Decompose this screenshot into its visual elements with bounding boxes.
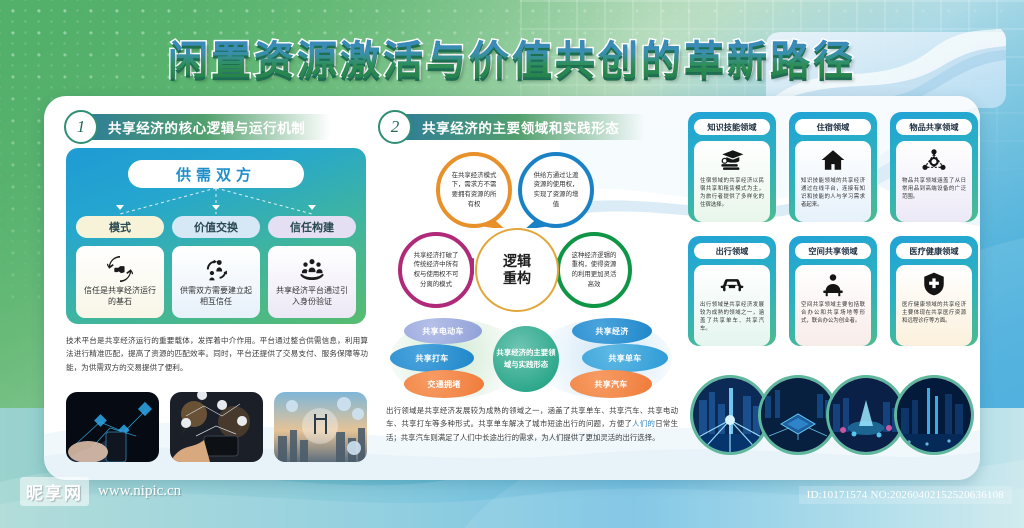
footer-url: www.nipic.cn	[98, 483, 181, 500]
domain-card-health-text: 医疗健康领域的共享经济主要体现在共享医疗资源和远程诊疗等方面。	[902, 301, 966, 325]
footer-brand: 昵享网	[20, 477, 89, 506]
sd-column-2-body: 供需双方需要建立起相互信任	[172, 246, 260, 318]
home-icon	[820, 147, 846, 173]
petal-4-bubble: 这种经济逻辑的重构，使得资源的利用更加灵活高效	[556, 232, 632, 308]
domain-card-mobility-text: 出行领域是共享经济发展较为成熟的领域之一，涵盖了共享单车、共享汽车。	[700, 301, 764, 333]
venn-left-item-1: 共享电动车	[404, 318, 482, 344]
venn-right-item-2: 共享单车	[582, 344, 668, 372]
section-1-title: 共享经济的核心逻辑与运行机制	[108, 117, 305, 137]
petal-4-text: 这种经济逻辑的重构，使得资源的利用更加灵活高效	[560, 251, 628, 289]
sd-column-1: 模式 信任是共享经济运行的基石	[76, 216, 164, 318]
photo-fingers-tablet-icons	[170, 392, 263, 462]
domain-card-space[interactable]: 空间共享领域 空间共享领域主要包括联合办公和共享场地等形式，联合办公为创业者。	[789, 236, 877, 346]
photo-hand-phone-network	[66, 392, 159, 462]
domain-card-goods-title: 物品共享领域	[896, 119, 972, 135]
network-gear-icon	[921, 147, 947, 173]
petal-1-bubble: 在共享经济模式下，需求方不需要拥有资源的所有权	[436, 152, 512, 228]
petal-2-bubble: 供给方通过让渡资源的使用权，实现了资源的增值	[518, 152, 594, 228]
petal-2-text: 供给方通过让渡资源的使用权，实现了资源的增值	[522, 171, 590, 209]
domain-card-lodging[interactable]: 住宿领域 知识技能领域的共享经济通过在线平台，连接有知识和技能的人与学习需求者起…	[789, 112, 877, 222]
sd-column-1-text: 信任是共享经济运行的基石	[81, 286, 159, 308]
supply-demand-card: 供需双方 模式 信任是共享经济运行的基石 价值交换	[66, 148, 366, 324]
venn-left-item-2: 共享打车	[390, 344, 474, 372]
domain-card-health-title: 医疗健康领域	[896, 243, 972, 259]
petal-3-bubble: 共享经济打破了传统经济中所有权与使用权不可分离的模式	[398, 232, 474, 308]
sd-column-3-head: 信任构建	[268, 216, 356, 238]
domain-card-goods-body: 物品共享领域涵盖了从日常用品到高端设备的广泛范围。	[896, 141, 972, 222]
petal-3: 共享经济打破了传统经济中所有权与使用权不可分离的模式	[398, 232, 474, 308]
section-1-photo-row	[66, 392, 368, 462]
domain-card-knowledge-body: 住宿领域的共享经济以民宿共享和租赁模式为主，为旅行者提供了多样化的住宿选择。	[694, 141, 770, 222]
domain-card-health-body: 医疗健康领域的共享经济主要体现在共享医疗资源和远程诊疗等方面。	[896, 265, 972, 346]
sd-column-2-text: 供需双方需要建立起相互信任	[177, 286, 255, 308]
poster-title-overlay: 闲置资源激活与价值共创的革新路径	[168, 28, 856, 86]
domain-card-lodging-text: 知识技能领域的共享经济通过在线平台，连接有知识和技能的人与学习需求者起来。	[801, 177, 865, 209]
domain-card-mobility-body: 出行领域是共享经济发展较为成熟的领域之一，涵盖了共享单车、共享汽车。	[694, 265, 770, 346]
sd-column-3-text: 共享经济平台通过引入身份验证	[273, 286, 351, 308]
section-2-title-bar: 共享经济的主要领域和实践形态	[402, 114, 645, 140]
section-1-paragraph: 技术平台是共享经济运行的重要载体，发挥着中介作用。平台通过整合供需信息，利用算法…	[66, 334, 368, 374]
car-icon	[719, 271, 745, 297]
domain-card-mobility-title: 出行领域	[694, 243, 770, 259]
handshake-icon	[107, 256, 133, 282]
sd-column-2: 价值交换 供需双方需要建立起相互信任	[172, 216, 260, 318]
poster-title-wrap: 闲置资源激活与价值共创的革新路径 闲置资源激活与价值共创的革新路径	[0, 28, 1024, 86]
graduation-books-icon	[719, 147, 745, 173]
sd-column-1-body: 信任是共享经济运行的基石	[76, 246, 164, 318]
supply-demand-title: 供需双方	[128, 160, 304, 188]
sd-column-1-head: 模式	[76, 216, 164, 238]
domain-card-lodging-body: 知识技能领域的共享经济通过在线平台，连接有知识和技能的人与学习需求者起来。	[795, 141, 871, 222]
section-2-title: 共享经济的主要领域和实践形态	[422, 117, 619, 137]
section-2-number: 2	[378, 110, 412, 144]
venn-left-item-3: 交通拥堵	[404, 370, 484, 398]
logic-hub: 逻辑重构	[475, 228, 559, 312]
domain-card-space-text: 空间共享领域主要包括联合办公和共享场地等形式，联合办公为创业者。	[801, 301, 865, 325]
person-desk-icon	[820, 271, 846, 297]
venn-right-item-1: 共享经济	[572, 318, 652, 344]
domain-card-space-body: 空间共享领域主要包括联合办公和共享场地等形式，联合办公为创业者。	[795, 265, 871, 346]
domain-card-health[interactable]: 医疗健康领域 医疗健康领域的共享经济主要体现在共享医疗资源和远程诊疗等方面。	[890, 236, 978, 346]
petal-2: 供给方通过让渡资源的使用权，实现了资源的增值	[518, 152, 594, 228]
petal-1-text: 在共享经济模式下，需求方不需要拥有资源的所有权	[440, 171, 508, 209]
photo-city-sunset-network	[274, 392, 367, 462]
shield-cross-icon	[921, 271, 947, 297]
mobility-venn: 共享电动车 共享打车 交通拥堵 共享经济的主要领域与实践形态 共享经济 共享单车…	[386, 318, 676, 400]
section-2-heading: 2 共享经济的主要领域和实践形态	[378, 112, 645, 142]
logic-hub-label: 逻辑重构	[503, 253, 531, 288]
petal-3-text: 共享经济打破了传统经济中所有权与使用权不可分离的模式	[402, 251, 470, 289]
city-photo-circle-row	[690, 372, 970, 454]
venn-center-label: 共享经济的主要领域与实践形态	[493, 326, 559, 392]
sd-column-2-head: 价值交换	[172, 216, 260, 238]
sd-column-3: 信任构建 共享经济平台通过引入身份验证	[268, 216, 356, 318]
footer-id-text: ID:10171574 NO:20260402152520636108	[799, 486, 1012, 504]
poster-root: 闲置资源激活与价值共创的革新路径 闲置资源激活与价值共创的革新路径 1 共享经济…	[0, 0, 1024, 528]
recycle-people-icon	[203, 256, 229, 282]
domain-card-mobility[interactable]: 出行领域 出行领域是共享经济发展较为成熟的领域之一，涵盖了共享单车、共享汽车。	[688, 236, 776, 346]
domain-card-lodging-title: 住宿领域	[795, 119, 871, 135]
petal-1: 在共享经济模式下，需求方不需要拥有资源的所有权	[436, 152, 512, 228]
domain-card-goods-text: 物品共享领域涵盖了从日常用品到高端设备的广泛范围。	[902, 177, 966, 201]
connector-lines-icon	[66, 188, 366, 216]
section-2-paragraph: 出行领域是共享经济发展较为成熟的领域之一，涵盖了共享单车、共享汽车、共享电动车、…	[386, 404, 678, 444]
people-hand-icon	[299, 256, 325, 282]
sd-column-3-body: 共享经济平台通过引入身份验证	[268, 246, 356, 318]
domain-card-knowledge-title: 知识技能领域	[694, 119, 770, 135]
circle-photo-blue-city-lights	[894, 375, 974, 455]
footer-logo: 昵享网 www.nipic.cn	[20, 477, 181, 506]
section-1-title-bar: 共享经济的核心逻辑与运行机制	[88, 114, 331, 140]
section-2-paragraph-highlight: 人们的	[632, 419, 655, 428]
domain-card-goods[interactable]: 物品共享领域 物品共享领域涵盖了从日常用品到高端设备的广泛范围。	[890, 112, 978, 222]
section-1-heading: 1 共享经济的核心逻辑与运行机制	[64, 112, 331, 142]
section-1-number: 1	[64, 110, 98, 144]
venn-right-item-3: 共享汽车	[570, 370, 652, 398]
domain-card-knowledge-text: 住宿领域的共享经济以民宿共享和租赁模式为主，为旅行者提供了多样化的住宿选择。	[700, 177, 764, 209]
petal-4: 这种经济逻辑的重构，使得资源的利用更加灵活高效	[556, 232, 632, 308]
domain-card-knowledge[interactable]: 知识技能领域 住宿领域的共享经济以民宿共享和租赁模式为主，为旅行者提供了多样化的…	[688, 112, 776, 222]
domain-card-space-title: 空间共享领域	[795, 243, 871, 259]
